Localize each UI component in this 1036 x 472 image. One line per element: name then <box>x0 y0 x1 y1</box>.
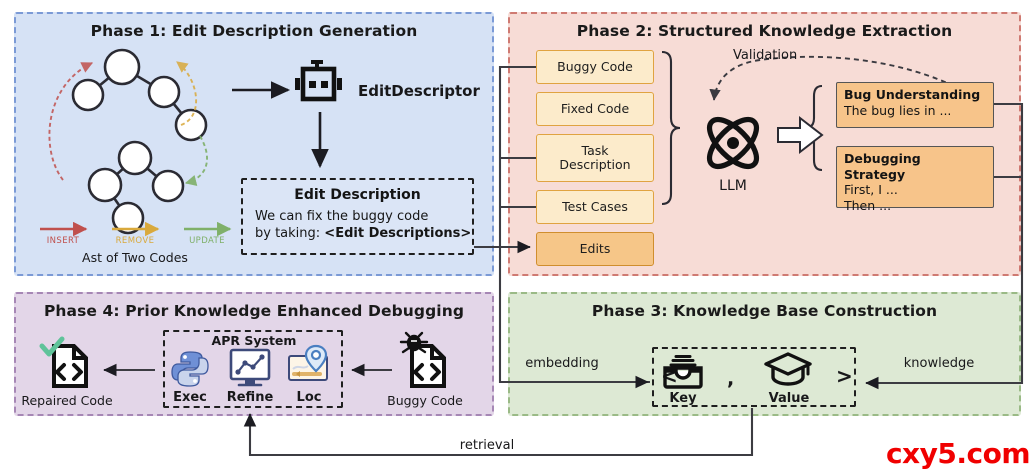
watermark: cxy5.com <box>886 437 1030 470</box>
diagram-canvas: Phase 1: Edit Description Generation Pha… <box>0 0 1036 472</box>
retrieval-label: retrieval <box>455 438 519 453</box>
global-connectors <box>0 0 1036 472</box>
